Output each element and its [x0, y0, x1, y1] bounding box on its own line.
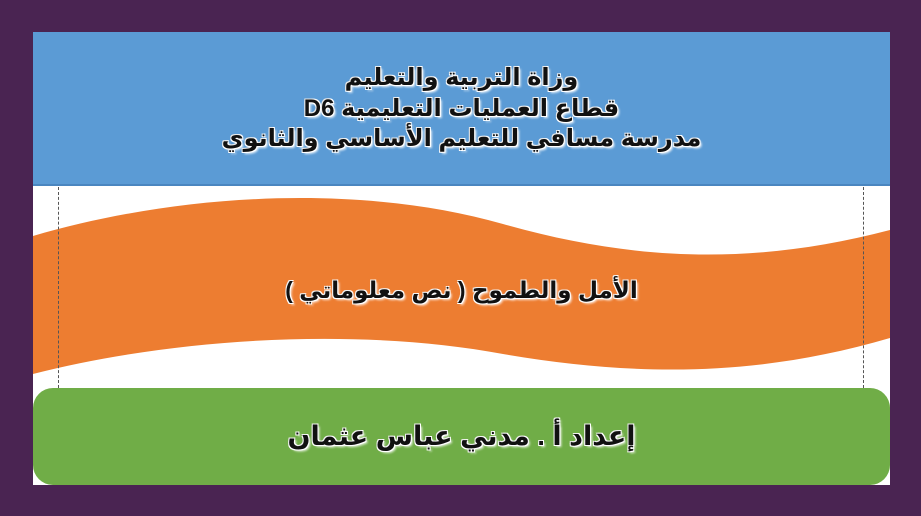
- header-band: وزاة التربية والتعليم قطاع العمليات التع…: [33, 32, 890, 186]
- slide-canvas: وزاة التربية والتعليم قطاع العمليات التع…: [33, 32, 890, 485]
- header-line-school: مدرسة مسافي للتعليم الأساسي والثانوي: [222, 124, 702, 155]
- author-credit: إعداد أ . مدني عباس عثمان: [287, 421, 635, 452]
- wave-caption-area: الأمل والطموح ( نص معلوماتي ): [33, 186, 890, 388]
- lesson-title: الأمل والطموح ( نص معلوماتي ): [285, 277, 638, 304]
- presentation-slide: وزاة التربية والتعليم قطاع العمليات التع…: [0, 0, 921, 516]
- footer-box: إعداد أ . مدني عباس عثمان: [33, 388, 890, 485]
- header-line-ministry: وزاة التربية والتعليم: [345, 63, 579, 94]
- header-line-sector: قطاع العمليات التعليمية D6: [304, 94, 619, 125]
